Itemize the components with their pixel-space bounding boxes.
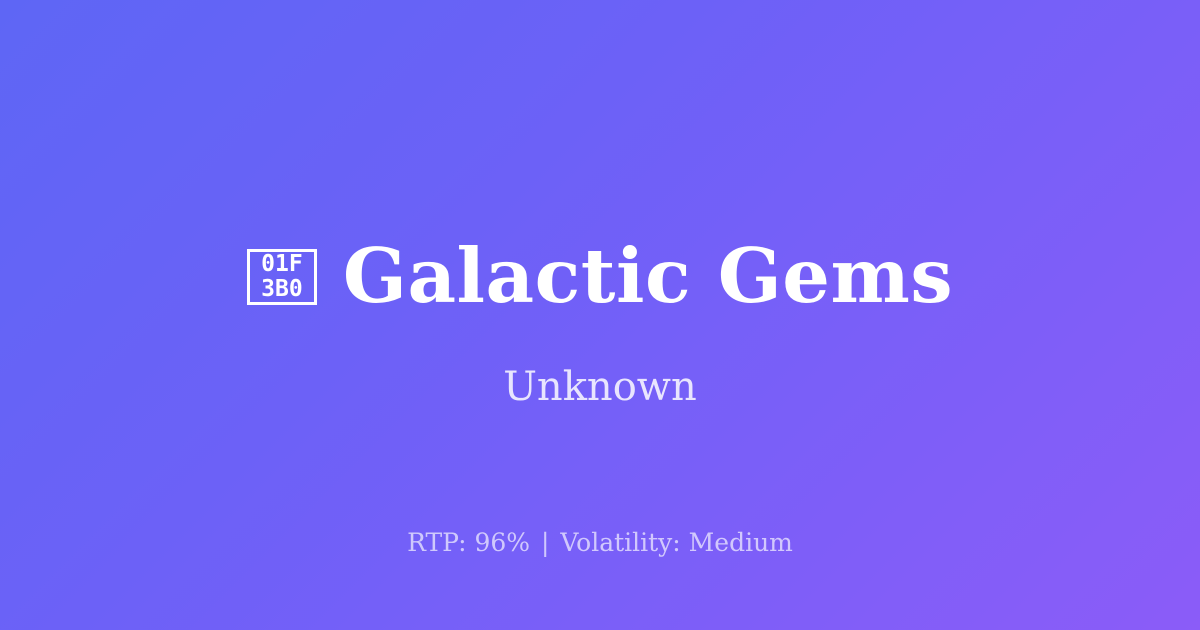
game-provider: Unknown (0, 362, 1200, 412)
slot-machine-emoji-missing-glyph-icon: 01F 3B0 (247, 249, 317, 305)
title-row: 01F 3B0 Galactic Gems (0, 231, 1200, 321)
game-title: Galactic Gems (343, 231, 953, 321)
meta-separator: | (538, 528, 552, 557)
game-share-card: 01F 3B0 Galactic Gems Unknown RTP: 96% |… (0, 0, 1200, 630)
codepoint-top: 01F (261, 252, 303, 277)
game-meta: RTP: 96% | Volatility: Medium (0, 527, 1200, 559)
codepoint-bottom: 3B0 (261, 277, 303, 302)
volatility-text: Volatility: Medium (560, 528, 792, 557)
rtp-text: RTP: 96% (407, 528, 530, 557)
